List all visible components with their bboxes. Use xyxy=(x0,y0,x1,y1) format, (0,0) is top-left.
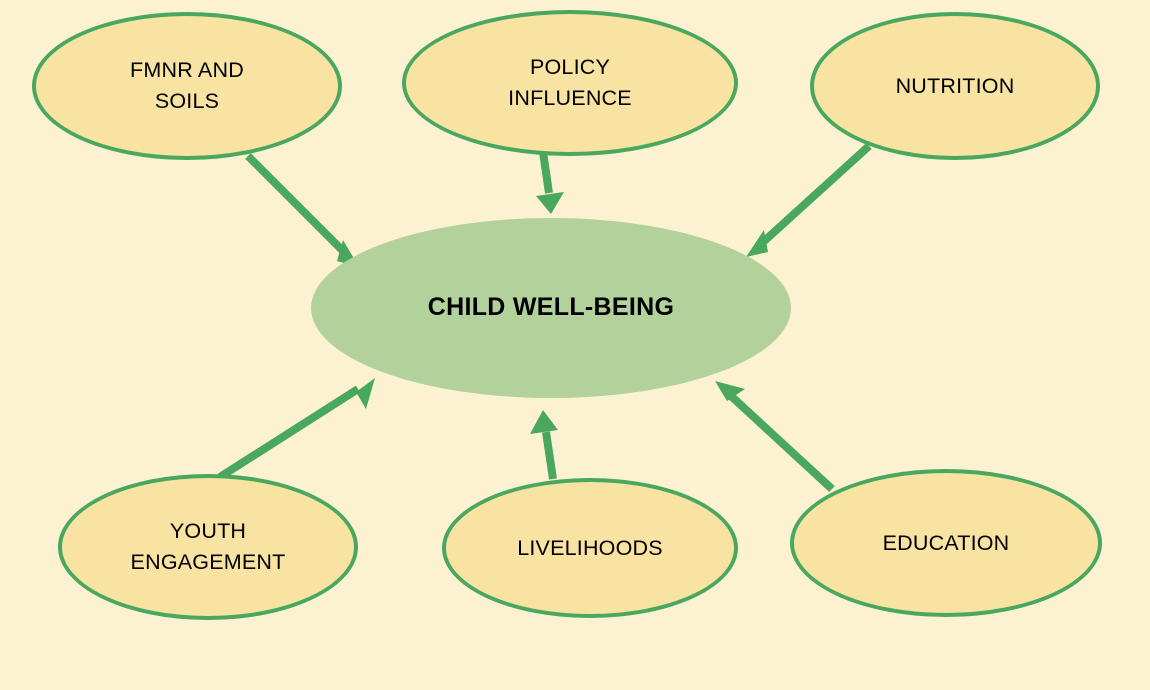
arrow-youth-to-center xyxy=(220,378,375,477)
arrow-nutrition-to-center xyxy=(746,146,869,257)
node-label-nutrition: NUTRITION xyxy=(896,71,1015,102)
node-label-education: EDUCATION xyxy=(883,528,1010,559)
node-education[interactable]: EDUCATION xyxy=(790,469,1102,617)
node-policy-influence[interactable]: POLICY INFLUENCE xyxy=(402,10,738,156)
concept-diagram: FMNR AND SOILS POLICY INFLUENCE NUTRITIO… xyxy=(0,0,1150,690)
node-child-well-being[interactable]: CHILD WELL-BEING xyxy=(311,218,791,398)
node-label-policy-influence: POLICY INFLUENCE xyxy=(508,52,632,113)
arrow-fmnr-to-center xyxy=(248,156,359,267)
arrow-education-to-center xyxy=(715,381,832,489)
node-label-youth-engagement: YOUTH ENGAGEMENT xyxy=(131,516,286,577)
node-label-fmnr-and-soils: FMNR AND SOILS xyxy=(130,55,244,116)
node-label-child-well-being: CHILD WELL-BEING xyxy=(428,290,674,326)
arrow-livelihoods-to-center xyxy=(530,410,558,479)
node-fmnr-and-soils[interactable]: FMNR AND SOILS xyxy=(32,12,342,160)
node-youth-engagement[interactable]: YOUTH ENGAGEMENT xyxy=(58,474,358,620)
node-label-livelihoods: LIVELIHOODS xyxy=(517,533,663,564)
arrow-policy-to-center xyxy=(536,152,564,214)
node-nutrition[interactable]: NUTRITION xyxy=(810,12,1100,160)
node-livelihoods[interactable]: LIVELIHOODS xyxy=(442,478,738,618)
